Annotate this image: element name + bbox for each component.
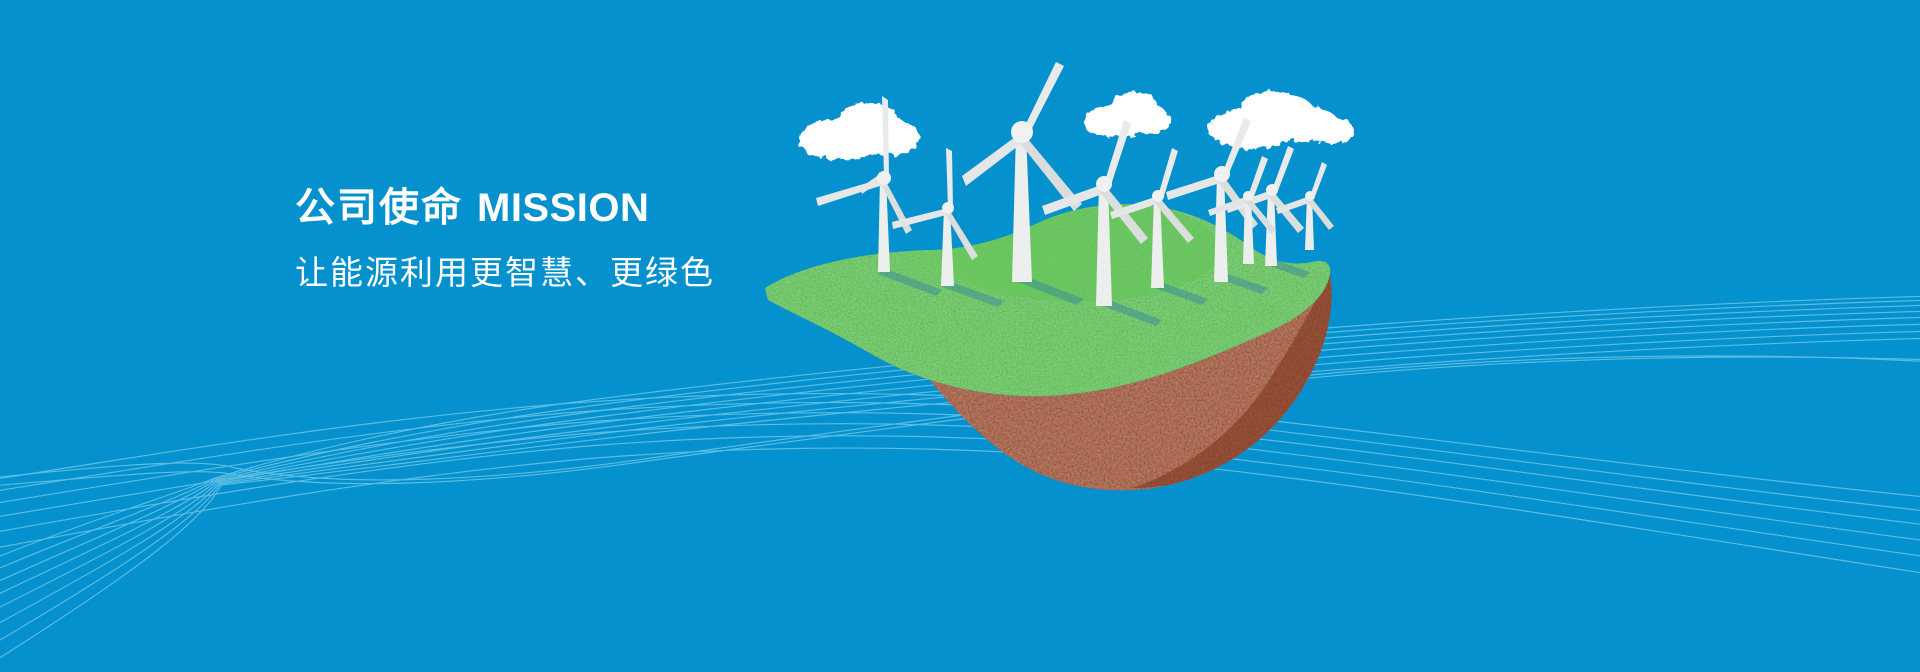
mission-text-block: 公司使命MISSION 让能源利用更智慧、更绿色 xyxy=(295,185,995,293)
mission-subtitle: 让能源利用更智慧、更绿色 xyxy=(295,253,995,293)
cloud-left xyxy=(799,102,919,160)
title-chinese: 公司使命 xyxy=(295,185,463,231)
title-english: MISSION xyxy=(477,186,649,230)
wind-turbine-9 xyxy=(1276,162,1334,250)
page-title: 公司使命MISSION xyxy=(295,185,995,231)
cloud-right xyxy=(1208,91,1354,149)
mission-banner: 公司使命MISSION 让能源利用更智慧、更绿色 xyxy=(0,0,1920,672)
wind-farm-illustration xyxy=(0,0,1920,672)
